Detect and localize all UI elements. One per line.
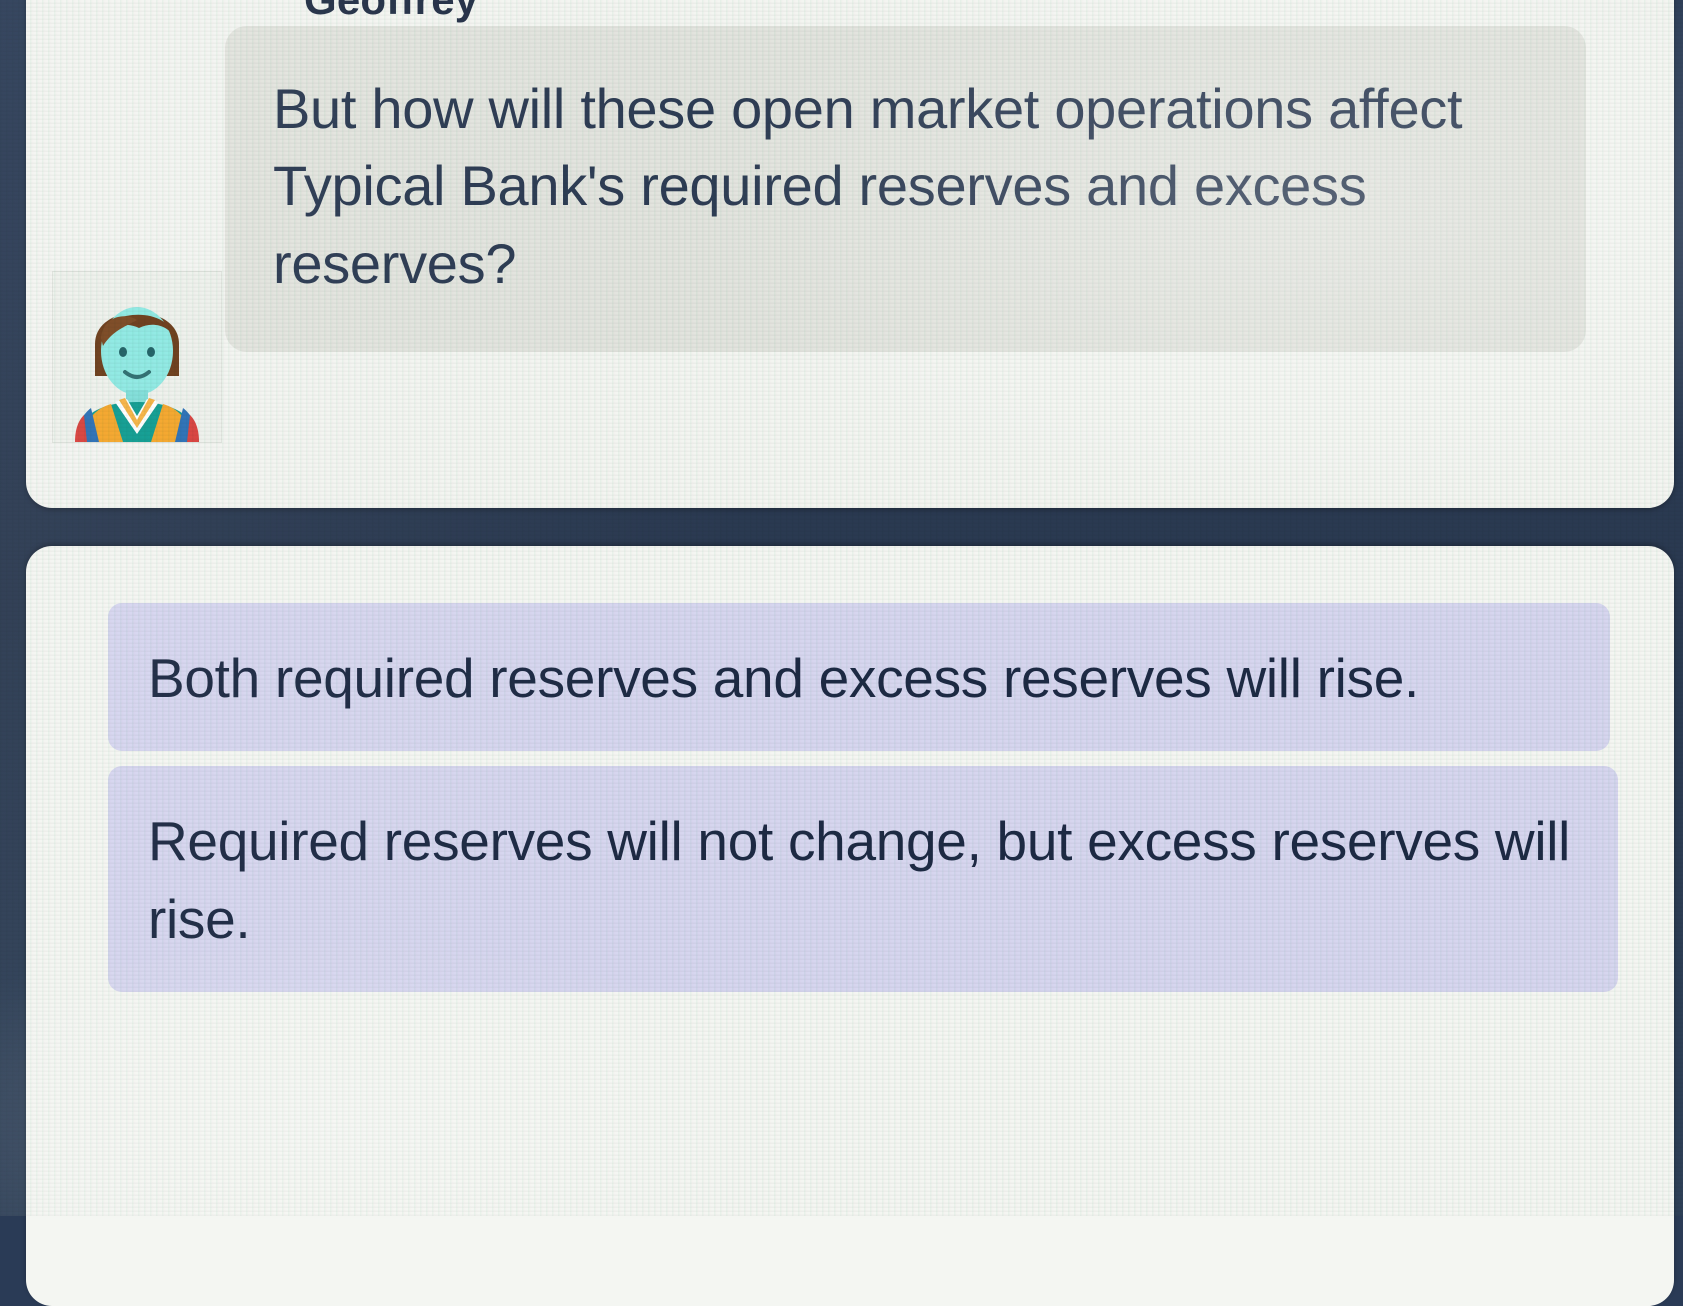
- answer-choices-card: Both required reserves and excess reserv…: [26, 546, 1674, 1306]
- answer-option-a-label: Both required reserves and excess reserv…: [148, 639, 1570, 717]
- tutor-question-card: Geoffrey: [26, 0, 1674, 508]
- student-avatar: [52, 271, 222, 443]
- speaker-name-label: Geoffrey: [304, 0, 478, 24]
- question-text: But how will these open market operation…: [273, 70, 1538, 302]
- answer-option-b-label: Required reserves will not change, but e…: [148, 802, 1578, 958]
- answer-option-b[interactable]: Required reserves will not change, but e…: [108, 766, 1618, 992]
- answer-options-list: Both required reserves and excess reserv…: [108, 603, 1608, 1007]
- question-bubble: But how will these open market operation…: [225, 26, 1586, 352]
- answer-option-a[interactable]: Both required reserves and excess reserv…: [108, 603, 1610, 751]
